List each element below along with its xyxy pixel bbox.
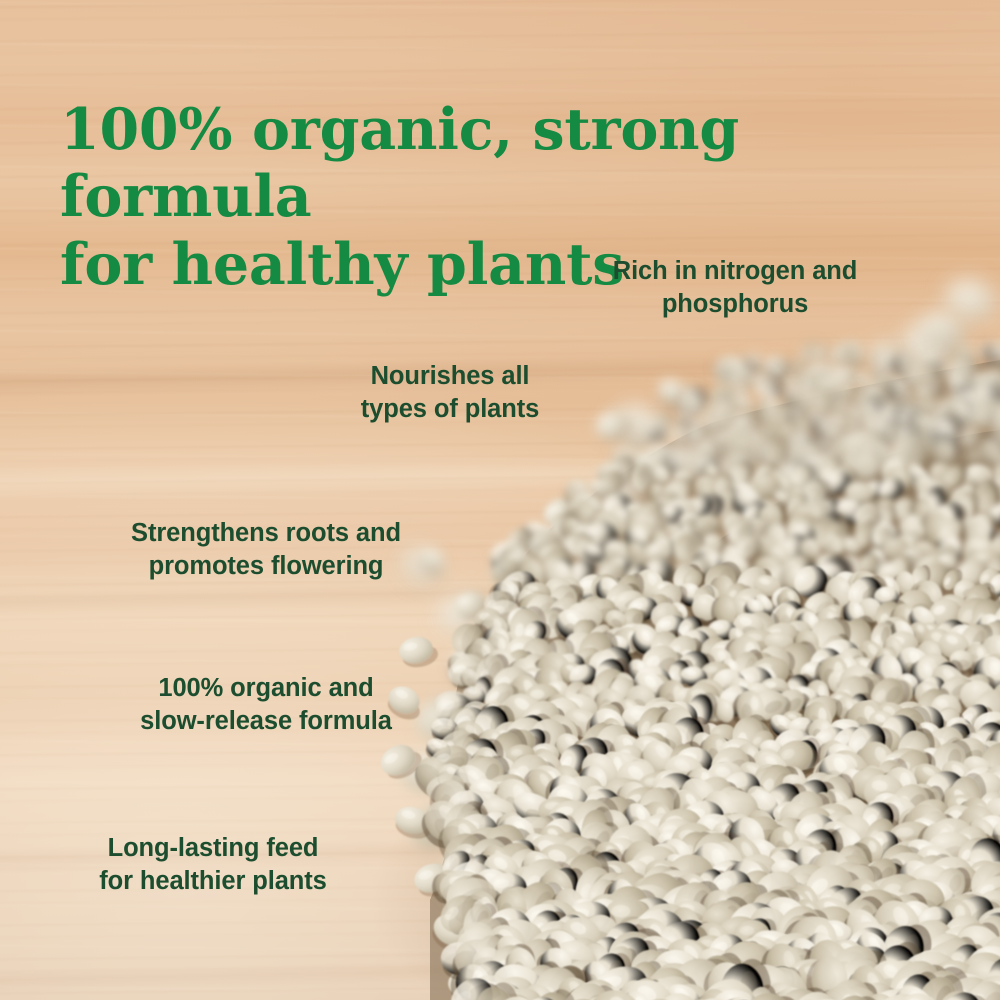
callout-organic-slow-release: 100% organic and slow-release formula bbox=[116, 672, 416, 738]
callout-nourishes-all-plants: Nourishes all types of plants bbox=[292, 360, 608, 426]
product-graphic-canvas: 100% organic, strong formula for healthy… bbox=[0, 0, 1000, 1000]
callout-rich-in-nitrogen: Rich in nitrogen and phosphorus bbox=[562, 255, 908, 321]
callout-strengthens-roots: Strengthens roots and promotes flowering bbox=[105, 517, 427, 583]
callout-long-lasting-feed: Long-lasting feed for healthier plants bbox=[68, 832, 358, 898]
